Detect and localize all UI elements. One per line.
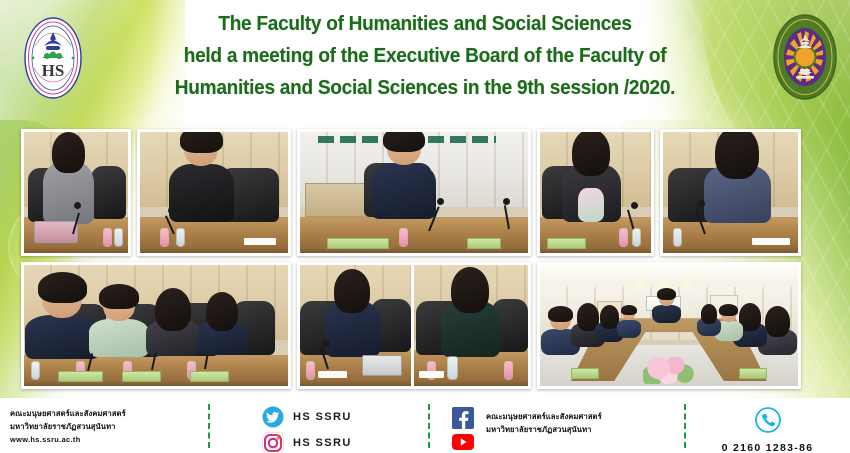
twitter-handle: HS SSRU [293,411,352,423]
gallery-photo-7b [414,265,528,386]
footer-divider-1 [208,404,210,448]
gallery-photo-6 [21,262,291,389]
svg-text:HS: HS [42,61,65,80]
gallery-photo-1 [21,129,131,256]
header: HS The Faculty of Humanities and Social … [0,0,850,120]
footer-social-right: คณะมนุษยศาสตร์และสังคมศาสตร์ มหาวิทยาลัย… [452,406,682,453]
phone-number: 0 2160 1283-86 [690,442,845,453]
social-right-line-2: มหาวิทยาลัยราชภัฏสวนสุนันทา [486,423,602,436]
instagram-icon[interactable] [262,432,284,453]
footer-contact: 0 2160 1283-86 [690,406,845,453]
gallery-photo-4 [537,129,654,256]
poster-title: The Faculty of Humanities and Social Sci… [118,8,732,104]
facebook-icon[interactable] [452,407,474,429]
footer-social-left: HS SSRU HS SSRU [262,406,432,453]
ssru-university-seal-icon [772,14,838,100]
address-line-1: คณะมนุษยศาสตร์และสังคมศาสตร์ [10,407,190,420]
twitter-icon[interactable] [262,406,284,428]
gallery-photo-2 [137,129,291,256]
gallery-photo-5 [660,129,801,256]
phone-icon [754,406,782,434]
gallery-photo-3 [297,129,531,256]
instagram-row[interactable]: HS SSRU [262,432,432,453]
footer-divider-2 [428,404,430,448]
gallery-photo-7 [297,262,531,389]
gallery-photo-8 [537,262,801,389]
address-line-2: มหาวิทยาลัยราชภัฏสวนสุนันทา [10,420,190,433]
footer-address: คณะมนุษยศาสตร์และสังคมศาสตร์ มหาวิทยาลัย… [10,407,190,453]
gallery-photo-7a [300,265,414,386]
twitter-row[interactable]: HS SSRU [262,406,432,428]
poster-banner: HS The Faculty of Humanities and Social … [0,0,850,453]
social-right-line-1: คณะมนุษยศาสตร์และสังคมศาสตร์ [486,410,602,423]
instagram-handle: HS SSRU [293,437,352,449]
footer-divider-3 [684,404,686,448]
youtube-icon[interactable] [452,434,474,450]
title-line-1: The Faculty of Humanities and Social Sci… [139,8,710,40]
address-website[interactable]: www.hs.ssru.ac.th [10,435,190,444]
title-line-3: Humanities and Social Sciences in the 9t… [139,72,710,104]
footer: คณะมนุษยศาสตร์และสังคมศาสตร์ มหาวิทยาลัย… [0,398,850,453]
photo-gallery [18,126,832,392]
title-line-2: held a meeting of the Executive Board of… [139,40,710,72]
hs-faculty-logo-icon: HS [14,12,92,104]
